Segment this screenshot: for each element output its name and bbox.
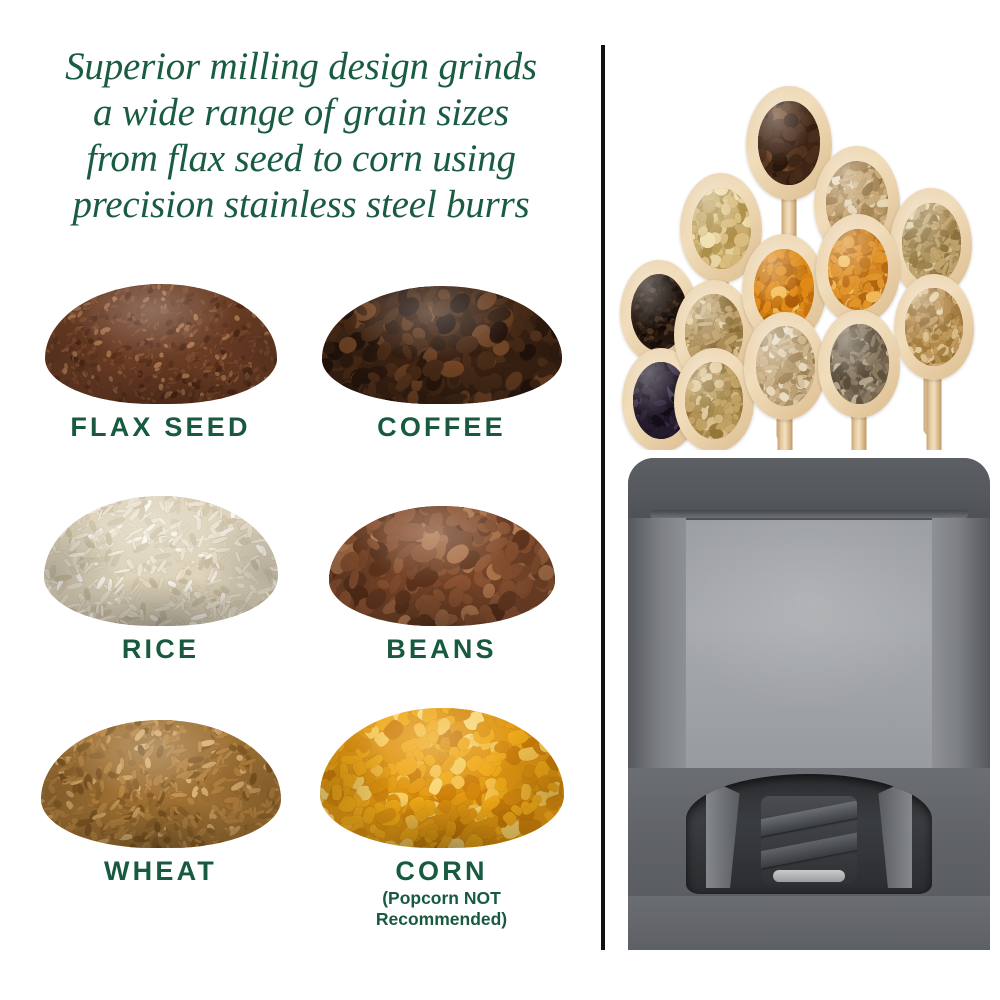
- grain-sample-grid: FLAX SEED COFFEE RICE BEANS: [20, 250, 582, 960]
- corn-kernels-pile-photo: [301, 694, 582, 854]
- spoon-bowl: [744, 312, 826, 420]
- grain-mill-hopper-burr-photo: [618, 450, 1000, 950]
- rice-pile-photo: [20, 472, 301, 632]
- spoon-grain-fill: [758, 101, 820, 185]
- spoon-grain-fill: [902, 203, 961, 284]
- spoon-grain-fill: [685, 362, 743, 439]
- pinto-beans-pile-photo: [301, 472, 582, 632]
- grinding-burr-auger: [628, 768, 990, 950]
- spoon-grain-fill: [756, 326, 815, 406]
- grain-cell-corn: CORN (Popcorn NOTRecommended): [301, 694, 582, 931]
- right-panel: [614, 0, 1000, 1000]
- left-panel: Superior milling design grinds a wide ra…: [0, 0, 601, 1000]
- spoon-grain-fill: [828, 229, 888, 310]
- grain-label: WHEAT: [20, 856, 301, 887]
- grain-label: FLAX SEED: [20, 412, 301, 443]
- spoon-bowl: [674, 348, 754, 452]
- spoon-bowl: [816, 214, 900, 324]
- grain-cell-flax-seed: FLAX SEED: [20, 250, 301, 487]
- headline-text: Superior milling design grinds a wide ra…: [20, 44, 582, 228]
- grain-label: RICE: [20, 634, 301, 665]
- headline-line-1: Superior milling design grinds: [20, 44, 582, 90]
- spoon-bowl: [894, 274, 974, 380]
- headline-line-4: precision stainless steel burrs: [20, 182, 582, 228]
- headline-line-2: a wide range of grain sizes: [20, 90, 582, 136]
- grain-sublabel: (Popcorn NOTRecommended): [301, 888, 582, 931]
- flax-seed-pile-photo: [20, 250, 301, 410]
- panel-divider: [601, 45, 605, 950]
- infographic-canvas: Superior milling design grinds a wide ra…: [0, 0, 1000, 1000]
- spoon-bowl: [818, 310, 900, 418]
- grain-cell-wheat: WHEAT: [20, 694, 301, 931]
- spoon-grain-fill: [830, 324, 889, 404]
- headline-line-3: from flax seed to corn using: [20, 136, 582, 182]
- stainless-steel-hopper: [628, 458, 990, 788]
- spoon-grain-fill: [905, 288, 963, 366]
- grain-cell-rice: RICE: [20, 472, 301, 709]
- grain-label: BEANS: [301, 634, 582, 665]
- wheat-grain-pile-photo: [20, 694, 301, 854]
- grain-cell-coffee: COFFEE: [301, 250, 582, 487]
- grain-label: CORN: [301, 856, 582, 887]
- wooden-spoons-grains-photo: [614, 48, 1000, 443]
- grain-cell-beans: BEANS: [301, 472, 582, 709]
- coffee-beans-pile-photo: [301, 250, 582, 410]
- grain-label: COFFEE: [301, 412, 582, 443]
